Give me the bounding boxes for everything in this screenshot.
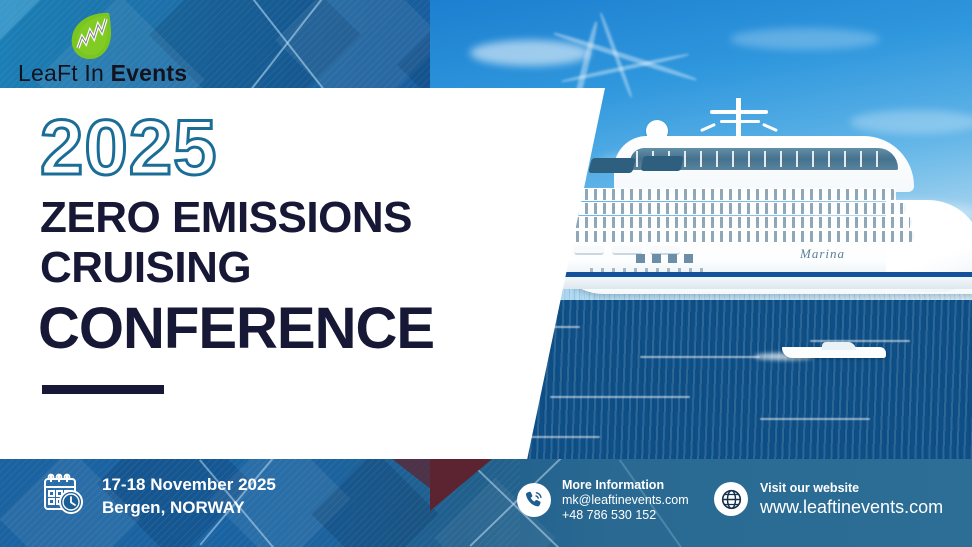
conference-banner: Marina LeaFt In Events 2025 ZERO <box>0 0 972 547</box>
boat-cabin <box>822 342 856 350</box>
footer-contact-block[interactable]: More Information mk@leaftinevents.com +4… <box>517 478 689 522</box>
water-glint <box>550 396 690 398</box>
globe-icon <box>714 482 748 516</box>
footer-date-block: 17-18 November 2025 Bergen, NORWAY <box>40 471 276 522</box>
calendar-clock-icon <box>40 471 86 522</box>
ship-window <box>684 254 693 263</box>
hull-base <box>550 277 972 289</box>
ship-window <box>641 156 684 171</box>
event-location: Bergen, NORWAY <box>102 497 276 519</box>
footer-contact-text: More Information mk@leaftinevents.com +4… <box>562 478 689 522</box>
leaf-chart-icon <box>63 10 115 62</box>
ship-window <box>636 254 645 263</box>
cloud <box>470 40 590 66</box>
brand-name-light: LeaFt In <box>18 60 111 86</box>
brand-logo[interactable]: LeaFt In Events <box>18 8 193 90</box>
footer-date-text: 17-18 November 2025 Bergen, NORWAY <box>102 474 276 519</box>
ship-deck-row <box>556 188 896 201</box>
ship-window <box>588 158 636 173</box>
ship-deck-row <box>556 230 914 243</box>
ship-window <box>652 254 661 263</box>
footer-website-block[interactable]: Visit our website www.leaftinevents.com <box>714 481 943 517</box>
water-glint <box>760 418 870 420</box>
contact-email[interactable]: mk@leaftinevents.com <box>562 493 689 508</box>
mast-crossarm <box>762 123 778 132</box>
footer-website-text: Visit our website www.leaftinevents.com <box>760 481 943 517</box>
brand-name-bold: Events <box>111 60 188 86</box>
contact-phone[interactable]: +48 786 530 152 <box>562 508 689 523</box>
event-year: 2025 <box>40 108 218 186</box>
visit-website-label: Visit our website <box>760 481 943 497</box>
ship-deck-row <box>556 202 906 215</box>
ship-deck-row <box>556 216 912 229</box>
mast-crossarm <box>720 120 760 123</box>
brand-logo-text: LeaFt In Events <box>18 60 187 87</box>
mast-crossarm <box>700 123 716 132</box>
website-url[interactable]: www.leaftinevents.com <box>760 497 943 518</box>
cruise-ship: Marina <box>550 96 972 296</box>
more-information-label: More Information <box>562 478 689 493</box>
cloud <box>730 28 880 50</box>
water-glint <box>640 356 760 358</box>
speedboat <box>782 340 886 360</box>
ship-name: Marina <box>800 246 845 262</box>
title-underline-rule <box>42 385 164 394</box>
ship-mast <box>736 98 741 138</box>
event-dates: 17-18 November 2025 <box>102 474 276 496</box>
ship-window <box>668 254 677 263</box>
event-title-line-1: ZERO EMISSIONS <box>40 196 412 240</box>
maroon-accent-triangle <box>392 459 436 493</box>
event-title-line-2: CRUISING <box>40 246 251 290</box>
phone-icon <box>517 483 551 517</box>
lifeboat <box>574 246 604 255</box>
event-title-line-3: CONFERENCE <box>38 300 434 358</box>
mast-crossarm <box>710 110 768 114</box>
